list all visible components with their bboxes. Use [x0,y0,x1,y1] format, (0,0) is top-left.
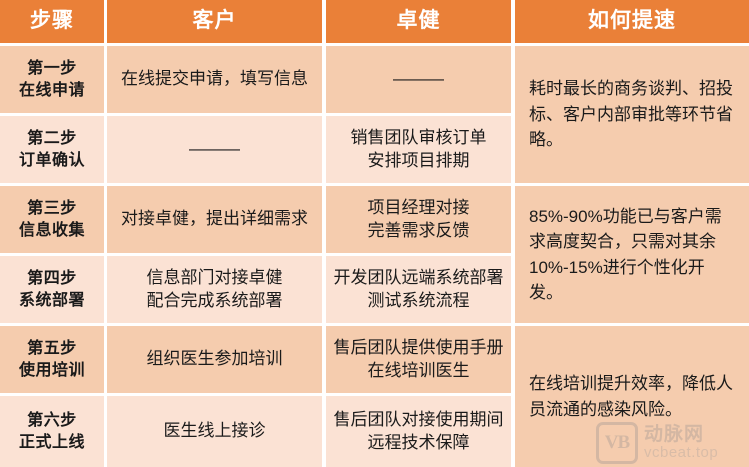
table-row: 第六步 正式上线 [0,396,104,467]
table-cell-zhuojian: 售后团队提供使用手册 在线培训医生 [326,326,511,393]
table-header-zhuojian: 卓健 [326,0,511,43]
table-cell-customer: 对接卓健，提出详细需求 [107,186,322,253]
table-row: 第三步 信息收集 [0,186,104,253]
table-cell-customer: ——— [107,116,322,183]
table-cell-zhuojian: 售后团队对接使用期间 远程技术保障 [326,396,511,467]
table-cell-speedup-note: 在线培训提升效率，降低人员流通的感染风险。 [515,326,749,467]
table-screenshot: 步骤 客户 卓健 如何提速 第一步 在线申请 在线提交申请，填写信息 ——— 第… [0,0,749,467]
table-cell-zhuojian: 销售团队审核订单 安排项目排期 [326,116,511,183]
table-cell-customer: 组织医生参加培训 [107,326,322,393]
table-cell-customer: 在线提交申请，填写信息 [107,46,322,113]
table-row: 第二步 订单确认 [0,116,104,183]
table-cell-zhuojian: 开发团队远端系统部署 测试系统流程 [326,256,511,323]
table-cell-speedup-note: 耗时最长的商务谈判、招投标、客户内部审批等环节省略。 [515,46,749,183]
table-cell-speedup-note: 85%-90%功能已与客户需求高度契合，只需对其余10%-15%进行个性化开发。 [515,186,749,323]
table-cell-zhuojian: 项目经理对接 完善需求反馈 [326,186,511,253]
table-cell-customer: 信息部门对接卓健 配合完成系统部署 [107,256,322,323]
table-row: 第四步 系统部署 [0,256,104,323]
table-header-speedup: 如何提速 [515,0,749,43]
table-cell-customer: 医生线上接诊 [107,396,322,467]
table-row: 第一步 在线申请 [0,46,104,113]
table-header-customer: 客户 [107,0,322,43]
table-header-step: 步骤 [0,0,104,43]
table-row: 第五步 使用培训 [0,326,104,393]
table-cell-zhuojian: ——— [326,46,511,113]
process-table: 步骤 客户 卓健 如何提速 第一步 在线申请 在线提交申请，填写信息 ——— 第… [0,0,749,467]
